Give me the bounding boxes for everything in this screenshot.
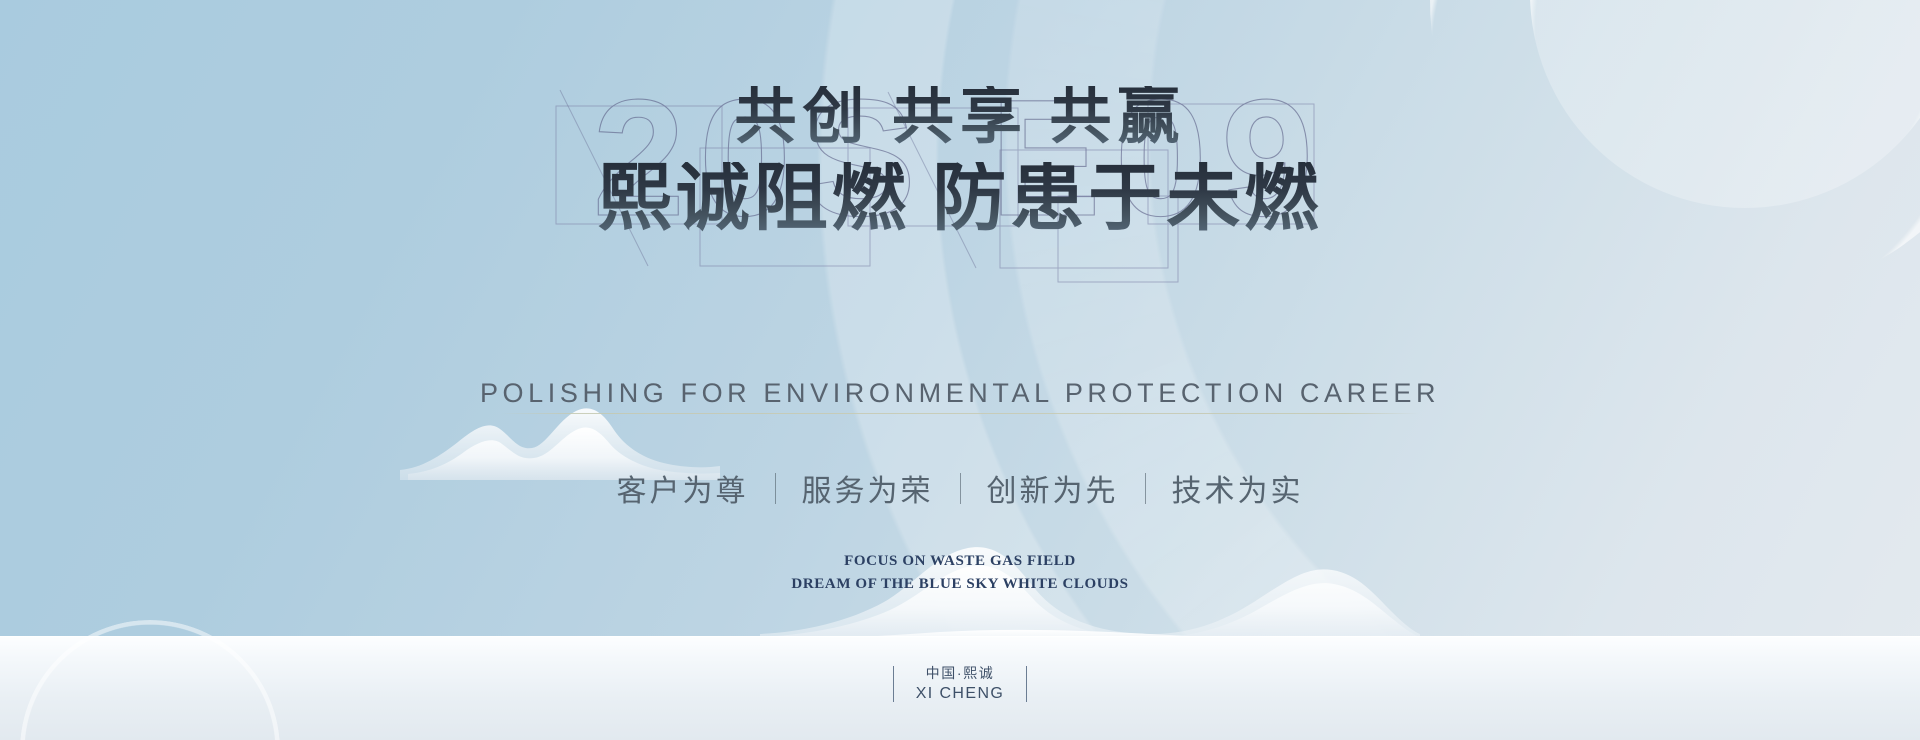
footer-brand-cn: 中国·熙诚: [916, 664, 1005, 683]
footer-bar-right: [1026, 666, 1027, 702]
footer-logo: 中国·熙诚 XI CHENG: [0, 664, 1920, 704]
value-item-0: 客户为尊: [591, 466, 775, 510]
value-item-3: 技术为实: [1146, 466, 1330, 510]
headline-line-2: 熙诚阻燃 防患于未燃: [0, 162, 1920, 236]
value-slogan-list: 客户为尊 服务为荣 创新为先 技术为实: [0, 466, 1920, 510]
value-item-1: 服务为荣: [776, 466, 960, 510]
tagline-underline: [501, 413, 1419, 414]
footer-brand-en: XI CHENG: [916, 683, 1005, 705]
footer-bar-left: [893, 666, 894, 702]
footer-brand: 中国·熙诚 XI CHENG: [916, 664, 1005, 704]
headline-line-1: 共创 共享 共赢: [0, 86, 1920, 148]
headline-block: 共创 共享 共赢 熙诚阻燃 防患于未燃: [0, 86, 1920, 236]
english-tagline: POLISHING FOR ENVIRONMENTAL PROTECTION C…: [0, 378, 1920, 409]
value-item-2: 创新为先: [961, 466, 1145, 510]
promo-banner: 20S E09 共创 共享 共赢 熙诚阻燃 防患于未燃: [0, 0, 1920, 740]
